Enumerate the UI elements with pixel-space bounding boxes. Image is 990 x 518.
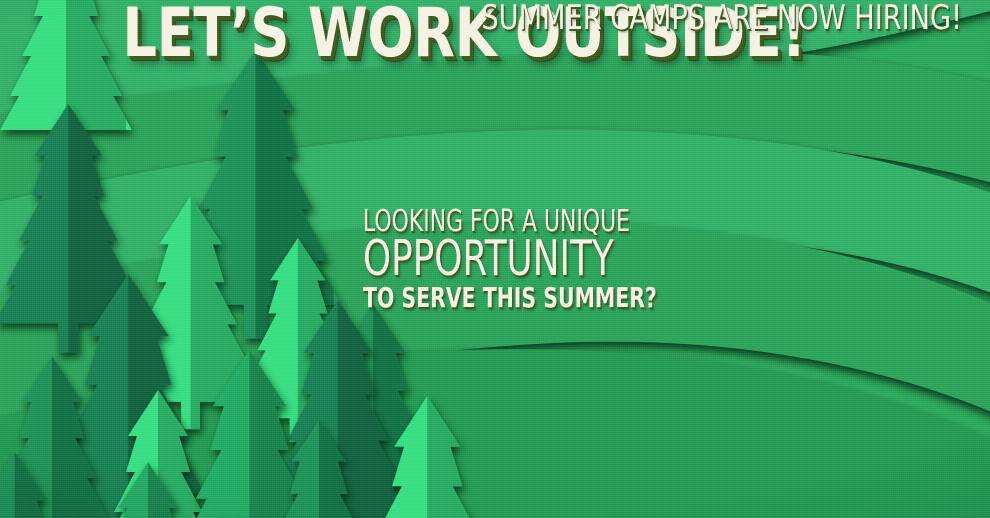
subhead-block: LOOKING FOR A UNIQUE OPPORTUNITY TO SERV… bbox=[363, 206, 693, 312]
subhead-line-3: TO SERVE THIS SUMMER? bbox=[363, 283, 604, 312]
tagline-hiring: SUMMER CAMPS ARE NOW HIRING! bbox=[192, 0, 962, 36]
subhead-line-2-opportunity: OPPORTUNITY bbox=[363, 236, 604, 282]
tagline-block: SUMMER CAMPS ARE NOW HIRING! bbox=[0, 0, 962, 36]
poster-canvas: LET’S WORK OUTSIDE! LOOKING FOR A UNIQUE… bbox=[0, 0, 990, 518]
